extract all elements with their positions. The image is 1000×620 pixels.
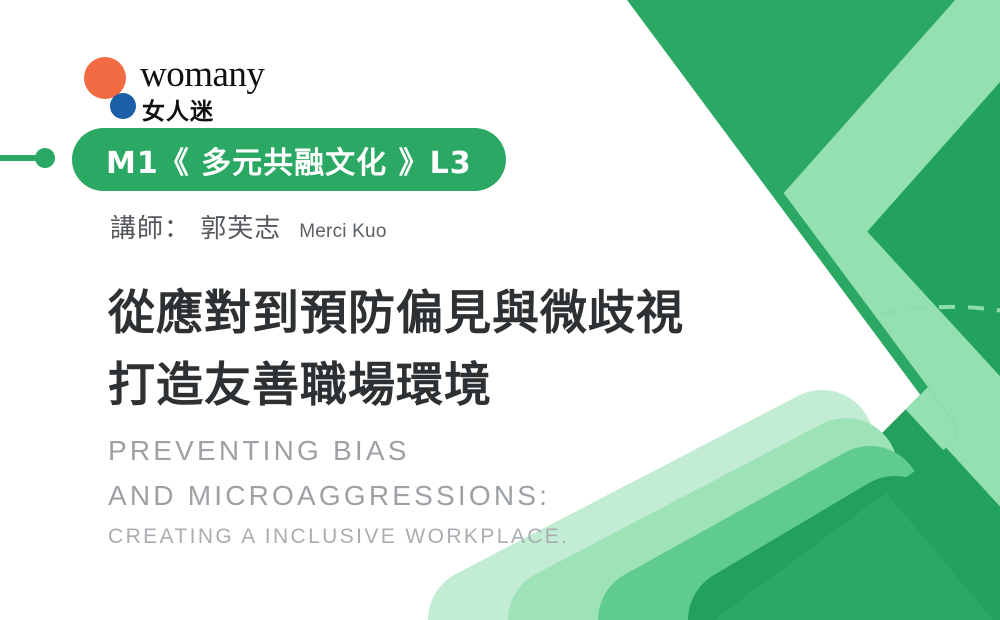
instructor-name-chinese: 講師： 郭芙志 — [110, 208, 281, 245]
circle-dot-icon — [110, 93, 136, 119]
subtitle-line-2: AND MICROAGGRESSIONS: — [108, 473, 569, 518]
title-line-2: 打造友善職場環境 — [108, 350, 868, 422]
module-badge: M1《 多元共融文化 》L3 — [72, 128, 506, 191]
title-slide: womany 女人迷 M1《 多元共融文化 》L3 講師： 郭芙志 Merci … — [0, 0, 1000, 620]
subtitle-line-3: CREATING A INCLUSIVE WORKPLACE. — [108, 518, 569, 556]
logo-chinese-name: 女人迷 — [142, 92, 214, 126]
page-subtitle: PREVENTING BIAS AND MICROAGGRESSIONS: CR… — [108, 428, 569, 556]
title-line-1: 從應對到預防偏見與微歧視 — [108, 278, 868, 350]
womany-logo[interactable]: womany 女人迷 — [84, 55, 314, 123]
subtitle-line-1: PREVENTING BIAS — [108, 428, 569, 473]
slide-content: womany 女人迷 M1《 多元共融文化 》L3 講師： 郭芙志 Merci … — [0, 0, 1000, 620]
instructor-line: 講師： 郭芙志 Merci Kuo — [110, 208, 387, 245]
instructor-name-english: Merci Kuo — [299, 221, 386, 243]
page-title: 從應對到預防偏見與微歧視 打造友善職場環境 — [108, 278, 868, 422]
logo-wordmark: womany — [140, 53, 264, 96]
